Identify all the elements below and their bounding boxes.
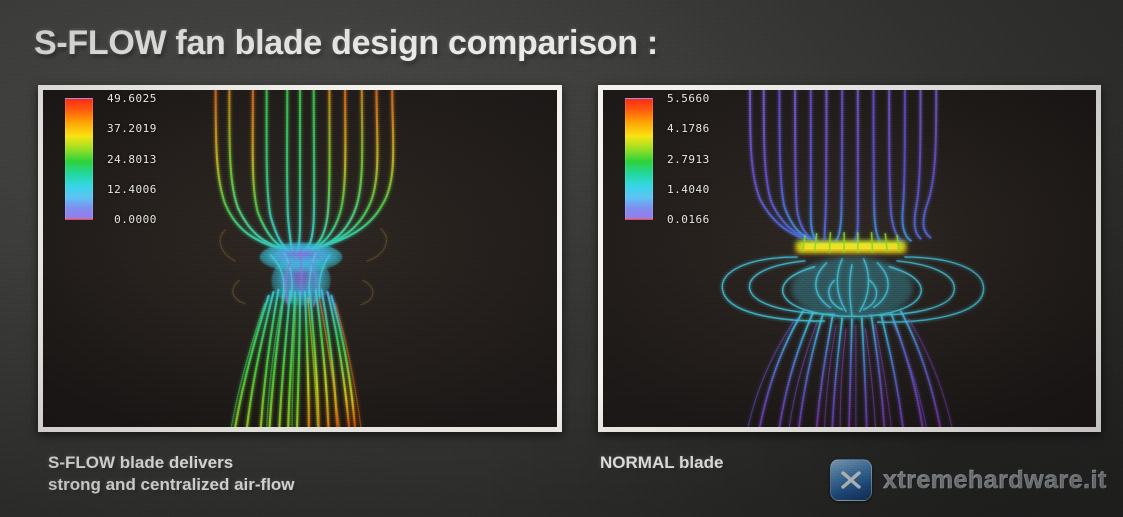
cfd-panel-normal-canvas: 5.5660 4.1786 2.7913 1.4040 0.0166 [603,90,1096,427]
colorbar-legend-sflow: 49.6025 37.2019 24.8013 12.4006 0.0000 [65,98,157,220]
colorbar-tick: 0.0166 [667,214,710,225]
colorbar-tick: 5.5660 [667,93,710,104]
colorbar-tick: 2.7913 [667,154,710,165]
page-title: S-FLOW fan blade design comparison : [34,24,658,63]
colorbar-gradient-normal [625,98,653,220]
watermark: xtremehardware.it [830,459,1107,501]
colorbar-tick: 49.6025 [107,93,157,104]
caption-sflow: S-FLOW blade delivers strong and central… [48,452,295,496]
colorbar-tick: 24.8013 [107,154,157,165]
colorbar-tick: 1.4040 [667,184,710,195]
colorbar-tick: 4.1786 [667,123,710,134]
colorbar-gradient-sflow [65,98,93,220]
cfd-panel-normal: 5.5660 4.1786 2.7913 1.4040 0.0166 [598,85,1101,432]
cfd-panel-sflow: 49.6025 37.2019 24.8013 12.4006 0.0000 [38,85,562,432]
colorbar-labels-sflow: 49.6025 37.2019 24.8013 12.4006 0.0000 [107,98,157,220]
screenshot-root: S-FLOW fan blade design comparison : [0,0,1123,517]
colorbar-labels-normal: 5.5660 4.1786 2.7913 1.4040 0.0166 [667,98,710,220]
caption-normal: NORMAL blade [600,452,723,474]
colorbar-tick: 12.4006 [107,184,157,195]
x-logo-icon [830,459,872,501]
colorbar-tick: 0.0000 [107,214,157,225]
colorbar-tick: 37.2019 [107,123,157,134]
watermark-text: xtremehardware.it [883,466,1107,495]
colorbar-legend-normal: 5.5660 4.1786 2.7913 1.4040 0.0166 [625,98,710,220]
cfd-panel-sflow-canvas: 49.6025 37.2019 24.8013 12.4006 0.0000 [43,90,557,427]
